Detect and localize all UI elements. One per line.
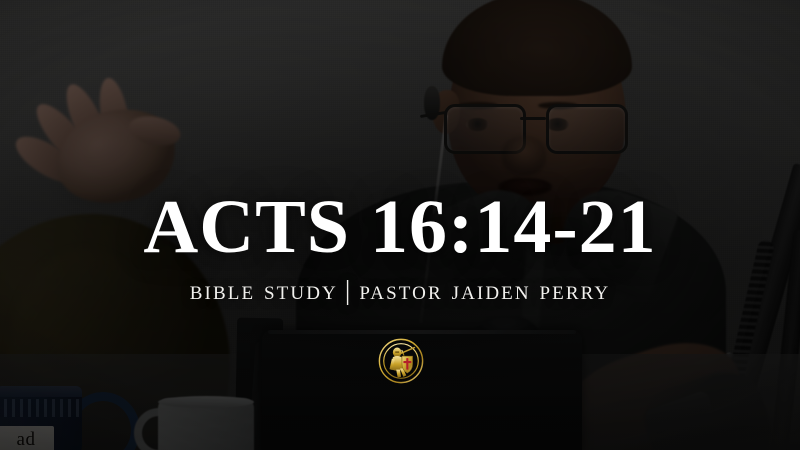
scripture-reference-title: ACTS 16:14-21	[0, 186, 800, 268]
subtitle-series: Bible Study	[190, 275, 338, 305]
title-block: ACTS 16:14-21 Bible Study|Pastor Jaiden …	[0, 186, 800, 306]
crusader-knight-shield-logo	[377, 337, 425, 385]
subtitle-separator: |	[338, 275, 360, 305]
subtitle-line: Bible Study|Pastor Jaiden Perry	[0, 274, 800, 306]
subtitle-speaker: Pastor Jaiden Perry	[359, 275, 610, 305]
sermon-title-card: ad ACTS 16:14-21 Bible Study|Pastor Jaid…	[0, 0, 800, 450]
